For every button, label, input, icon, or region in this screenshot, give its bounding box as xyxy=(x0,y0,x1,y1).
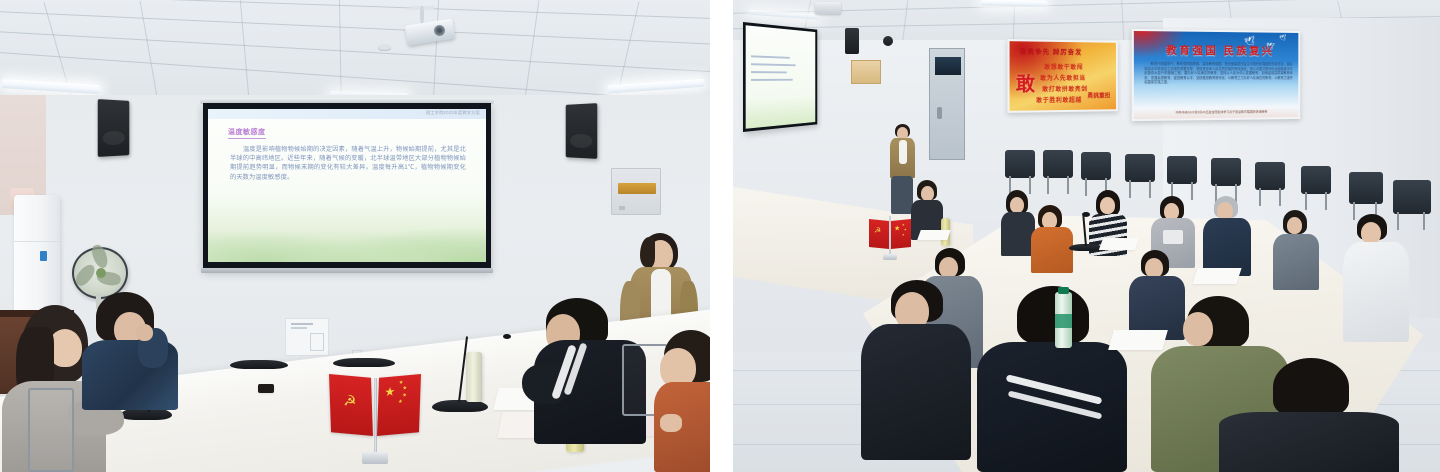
banner-right-headline: 教育强国 民族复兴 xyxy=(1150,42,1288,58)
attendee-right-seat-11 xyxy=(861,280,971,460)
left-photo: 理工学院2023年度教学方案 温度敏感度 温度是影响植物物候始期的决定因素，随着… xyxy=(0,0,710,472)
entrance-door[interactable] xyxy=(929,48,965,160)
ceiling-projector-icon xyxy=(398,6,456,46)
smoke-detector-icon xyxy=(378,44,391,51)
wall-notice-board xyxy=(285,318,329,356)
banner-left-line-3: 敢打敢拼敢亮剑 xyxy=(1042,84,1087,93)
flag-stand-right: ☭ ★ ★ ★ ★ xyxy=(869,212,911,264)
slide-title: 温度敏感度 xyxy=(228,127,266,139)
microphone-head xyxy=(1082,212,1090,217)
attendee-right-seat-8 xyxy=(1343,214,1409,344)
notebook-papers xyxy=(917,230,951,240)
banner-left-headline: 敢 xyxy=(1016,69,1035,97)
notebook-papers xyxy=(1099,238,1139,250)
electrical-panel xyxy=(611,168,661,215)
ceiling-sensor-icon xyxy=(883,36,893,46)
projection-screen-angled xyxy=(743,22,817,132)
dove-icon: 🕊 xyxy=(1279,34,1287,42)
screen-weight-bar xyxy=(201,268,493,273)
banner-left-topline: 奋勇争先 踔厉奋发 xyxy=(1020,45,1083,56)
notebook-papers xyxy=(1108,330,1168,350)
slide-body-text: 温度是影响植物物候始期的决定因素，随着气温上升，物候始期提前，尤其是北半球的中高… xyxy=(230,145,466,182)
water-bottle xyxy=(1055,292,1072,348)
flag-stand: ☭ ★ ★ ★ ★ ★ xyxy=(330,366,422,468)
banner-left-line-1: 敢想敢干敢闯 xyxy=(1044,62,1083,71)
microphone-head xyxy=(503,334,511,339)
banner-right-body: 教育兴则国家兴，教育强则国家强。建设教育强国，是全面建成社会主义现代化强国的先导… xyxy=(1144,62,1292,85)
right-photo: 奋勇争先 踔厉奋发 敢 敢想敢干敢闯 敢为人先敢担当 敢打敢拼敢亮剑 敢于胜利敢… xyxy=(733,0,1440,472)
air-conditioner xyxy=(14,195,60,313)
party-flag: ☭ xyxy=(869,219,889,249)
ceiling-light-panel xyxy=(608,79,704,94)
ceiling-light-panel xyxy=(981,0,1047,7)
fire-equipment-box xyxy=(851,60,881,84)
party-flag: ☭ xyxy=(329,374,373,436)
attendee-right-seat-12 xyxy=(977,286,1127,472)
wall-banner-left: 奋勇争先 踔厉奋发 敢 敢想敢干敢闯 敢为人先敢担当 敢打敢拼敢亮剑 敢于胜利敢… xyxy=(1007,39,1117,113)
banner-left-signature: 勇挑重担 xyxy=(1087,91,1110,100)
banner-left-line-4: 敢于胜利敢超越 xyxy=(1036,95,1082,104)
wall-speaker-right xyxy=(566,103,598,159)
photo-gap xyxy=(710,0,733,472)
chair xyxy=(28,388,74,472)
ceiling-projector-icon xyxy=(815,2,841,14)
attendee-right-seat-14 xyxy=(1219,358,1399,472)
attendee-right-seat-3 xyxy=(1031,205,1073,273)
attendee-right-seat-7 xyxy=(1273,210,1319,290)
attendee-right-2 xyxy=(654,330,710,472)
photo-composite: 理工学院2023年度教学方案 温度敏感度 温度是影响植物物候始期的决定因素，随着… xyxy=(0,0,1440,472)
wall-speaker-left xyxy=(98,99,130,157)
microphone-base xyxy=(230,360,288,369)
ceiling-light-panel xyxy=(2,79,100,94)
wall-speaker xyxy=(845,28,859,54)
wall-banner-right: 🕊 🕊 🕊 教育强国 民族复兴 教育兴则国家兴，教育强则国家强。建设教育强国，是… xyxy=(1132,29,1300,121)
notebook-papers xyxy=(1192,268,1241,284)
attendee-left-2 xyxy=(78,292,184,412)
national-flag: ★ ★ ★ ★ ★ xyxy=(377,374,421,436)
small-object xyxy=(258,384,274,393)
slide-decorative-hills xyxy=(208,228,486,262)
projection-screen: 理工学院2023年度教学方案 温度敏感度 温度是影响植物物候始期的决定因素，随着… xyxy=(208,109,486,262)
attendee-right-seat-6 xyxy=(1203,196,1251,276)
slide-header-text: 理工学院2023年度教学方案 xyxy=(426,110,480,116)
thermos-bottle xyxy=(466,352,482,402)
projection-screen-frame: 理工学院2023年度教学方案 温度敏感度 温度是影响植物物候始期的决定因素，随着… xyxy=(203,103,491,270)
attendee-right-seat-2 xyxy=(1001,190,1035,256)
banner-right-footer: 中共中央2023年5月29日政治局集体学习关于建设教育强国的讲话精神 xyxy=(1161,109,1282,114)
national-flag: ★ ★ ★ ★ xyxy=(891,219,911,249)
banner-left-line-2: 敢为人先敢担当 xyxy=(1040,73,1086,82)
projection-screen-right xyxy=(746,25,816,128)
